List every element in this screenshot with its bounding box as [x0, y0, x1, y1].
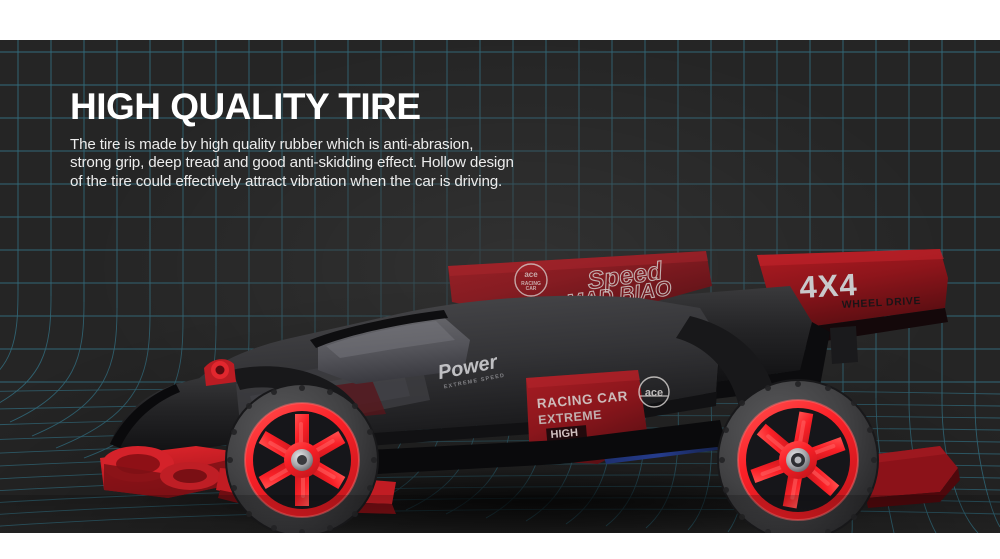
feature-copy-block: HIGH QUALITY TIRE The tire is made by hi… [70, 87, 540, 191]
product-feature-banner: 4X4 WHEEL DRIVE ace RACING [0, 40, 1000, 533]
page-root: 4X4 WHEEL DRIVE ace RACING [0, 0, 1000, 559]
svg-text:ace: ace [524, 270, 538, 279]
svg-text:CAR: CAR [526, 286, 537, 292]
page-title: HIGH QUALITY TIRE [70, 87, 540, 127]
feature-description: The tire is made by high quality rubber … [70, 136, 515, 191]
svg-text:ace: ace [645, 387, 663, 399]
